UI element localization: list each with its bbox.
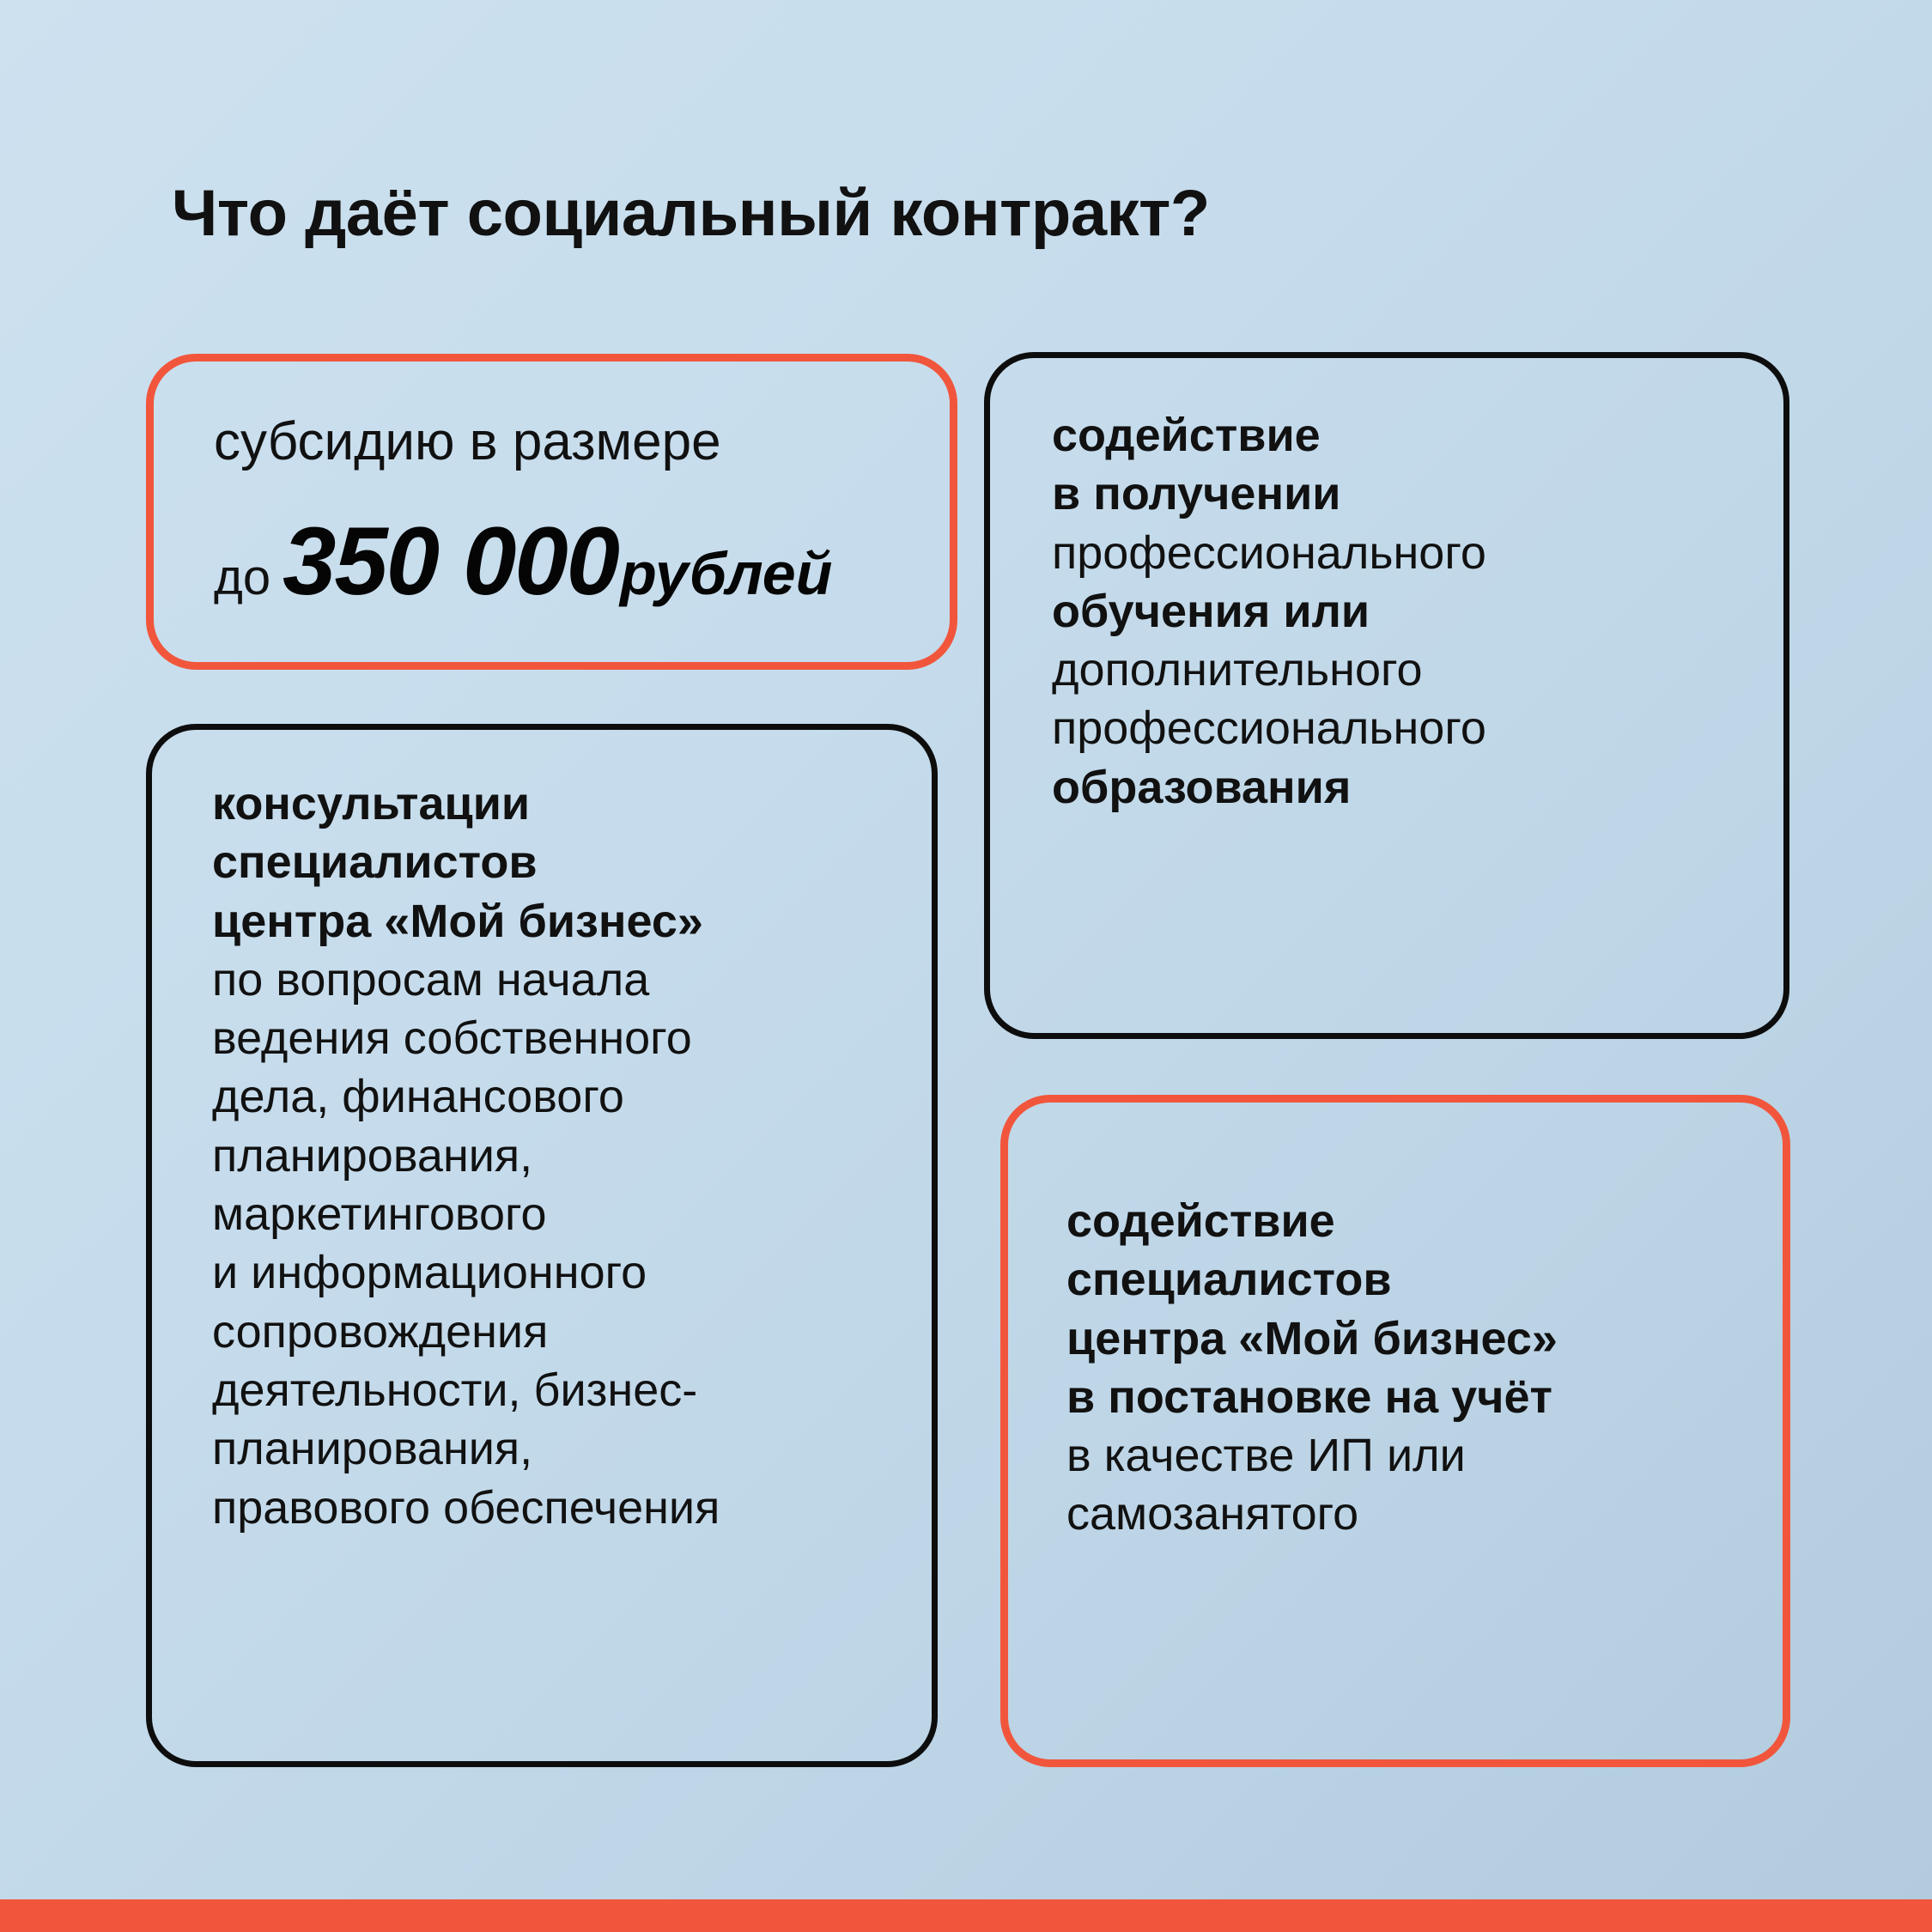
card-text-line: сопровождения bbox=[212, 1303, 932, 1361]
card-text-line: дела, финансового bbox=[212, 1067, 932, 1126]
card-text-line: содействие bbox=[1052, 406, 1783, 465]
subsidy-amount-row: до 350 000 рублей bbox=[214, 506, 950, 617]
card-text-line: в постановке на учёт bbox=[1066, 1368, 1783, 1426]
card-text-line: специалистов bbox=[1066, 1250, 1783, 1309]
infographic-canvas: Что даёт социальный контракт? субсидию в… bbox=[0, 0, 1932, 1932]
card-text-line: самозанятого bbox=[1066, 1485, 1783, 1543]
card-consultations-body: консультацииспециалистовцентра «Мой бизн… bbox=[152, 730, 932, 1537]
card-education-body: содействиев получениипрофессиональногооб… bbox=[990, 358, 1783, 817]
subsidy-amount-value: 350 000 bbox=[283, 506, 618, 617]
subsidy-lead-text: субсидию в размере bbox=[214, 413, 950, 471]
card-education: содействиев получениипрофессиональногооб… bbox=[984, 352, 1789, 1039]
card-text-line: профессионального bbox=[1052, 524, 1783, 582]
card-text-line: в качестве ИП или bbox=[1066, 1426, 1783, 1485]
card-text-line: центра «Мой бизнес» bbox=[212, 892, 932, 951]
card-text-line: специалистов bbox=[212, 833, 932, 891]
bottom-accent-bar bbox=[0, 1899, 1932, 1932]
card-text-line: и информационного bbox=[212, 1243, 932, 1302]
card-text-line: центра «Мой бизнес» bbox=[1066, 1309, 1783, 1368]
card-text-line: консультации bbox=[212, 775, 932, 833]
card-subsidy-body: субсидию в размере до 350 000 рублей bbox=[154, 361, 950, 617]
card-text-line: по вопросам начала bbox=[212, 951, 932, 1009]
card-text-line: ведения собственного bbox=[212, 1009, 932, 1067]
card-text-line: содействие bbox=[1066, 1192, 1783, 1250]
card-consultations: консультацииспециалистовцентра «Мой бизн… bbox=[146, 724, 938, 1767]
card-text-line: планирования, bbox=[212, 1127, 932, 1185]
card-subsidy: субсидию в размере до 350 000 рублей bbox=[146, 354, 957, 670]
card-text-line: дополнительного bbox=[1052, 641, 1783, 699]
card-text-line: деятельности, бизнес- bbox=[212, 1361, 932, 1419]
card-registration-body: содействиеспециалистовцентра «Мой бизнес… bbox=[1008, 1103, 1783, 1544]
subsidy-amount-prefix: до bbox=[214, 549, 270, 606]
card-registration: содействиеспециалистовцентра «Мой бизнес… bbox=[1000, 1095, 1790, 1767]
card-text-line: в получении bbox=[1052, 465, 1783, 523]
card-text-line: маркетингового bbox=[212, 1185, 932, 1243]
page-title: Что даёт социальный контракт? bbox=[172, 179, 1210, 248]
card-text-line: правового обеспечения bbox=[212, 1479, 932, 1537]
subsidy-amount-unit: рублей bbox=[620, 539, 832, 608]
card-text-line: образования bbox=[1052, 758, 1783, 817]
card-text-line: обучения или bbox=[1052, 582, 1783, 641]
card-text-line: профессионального bbox=[1052, 699, 1783, 757]
card-text-line: планирования, bbox=[212, 1419, 932, 1478]
